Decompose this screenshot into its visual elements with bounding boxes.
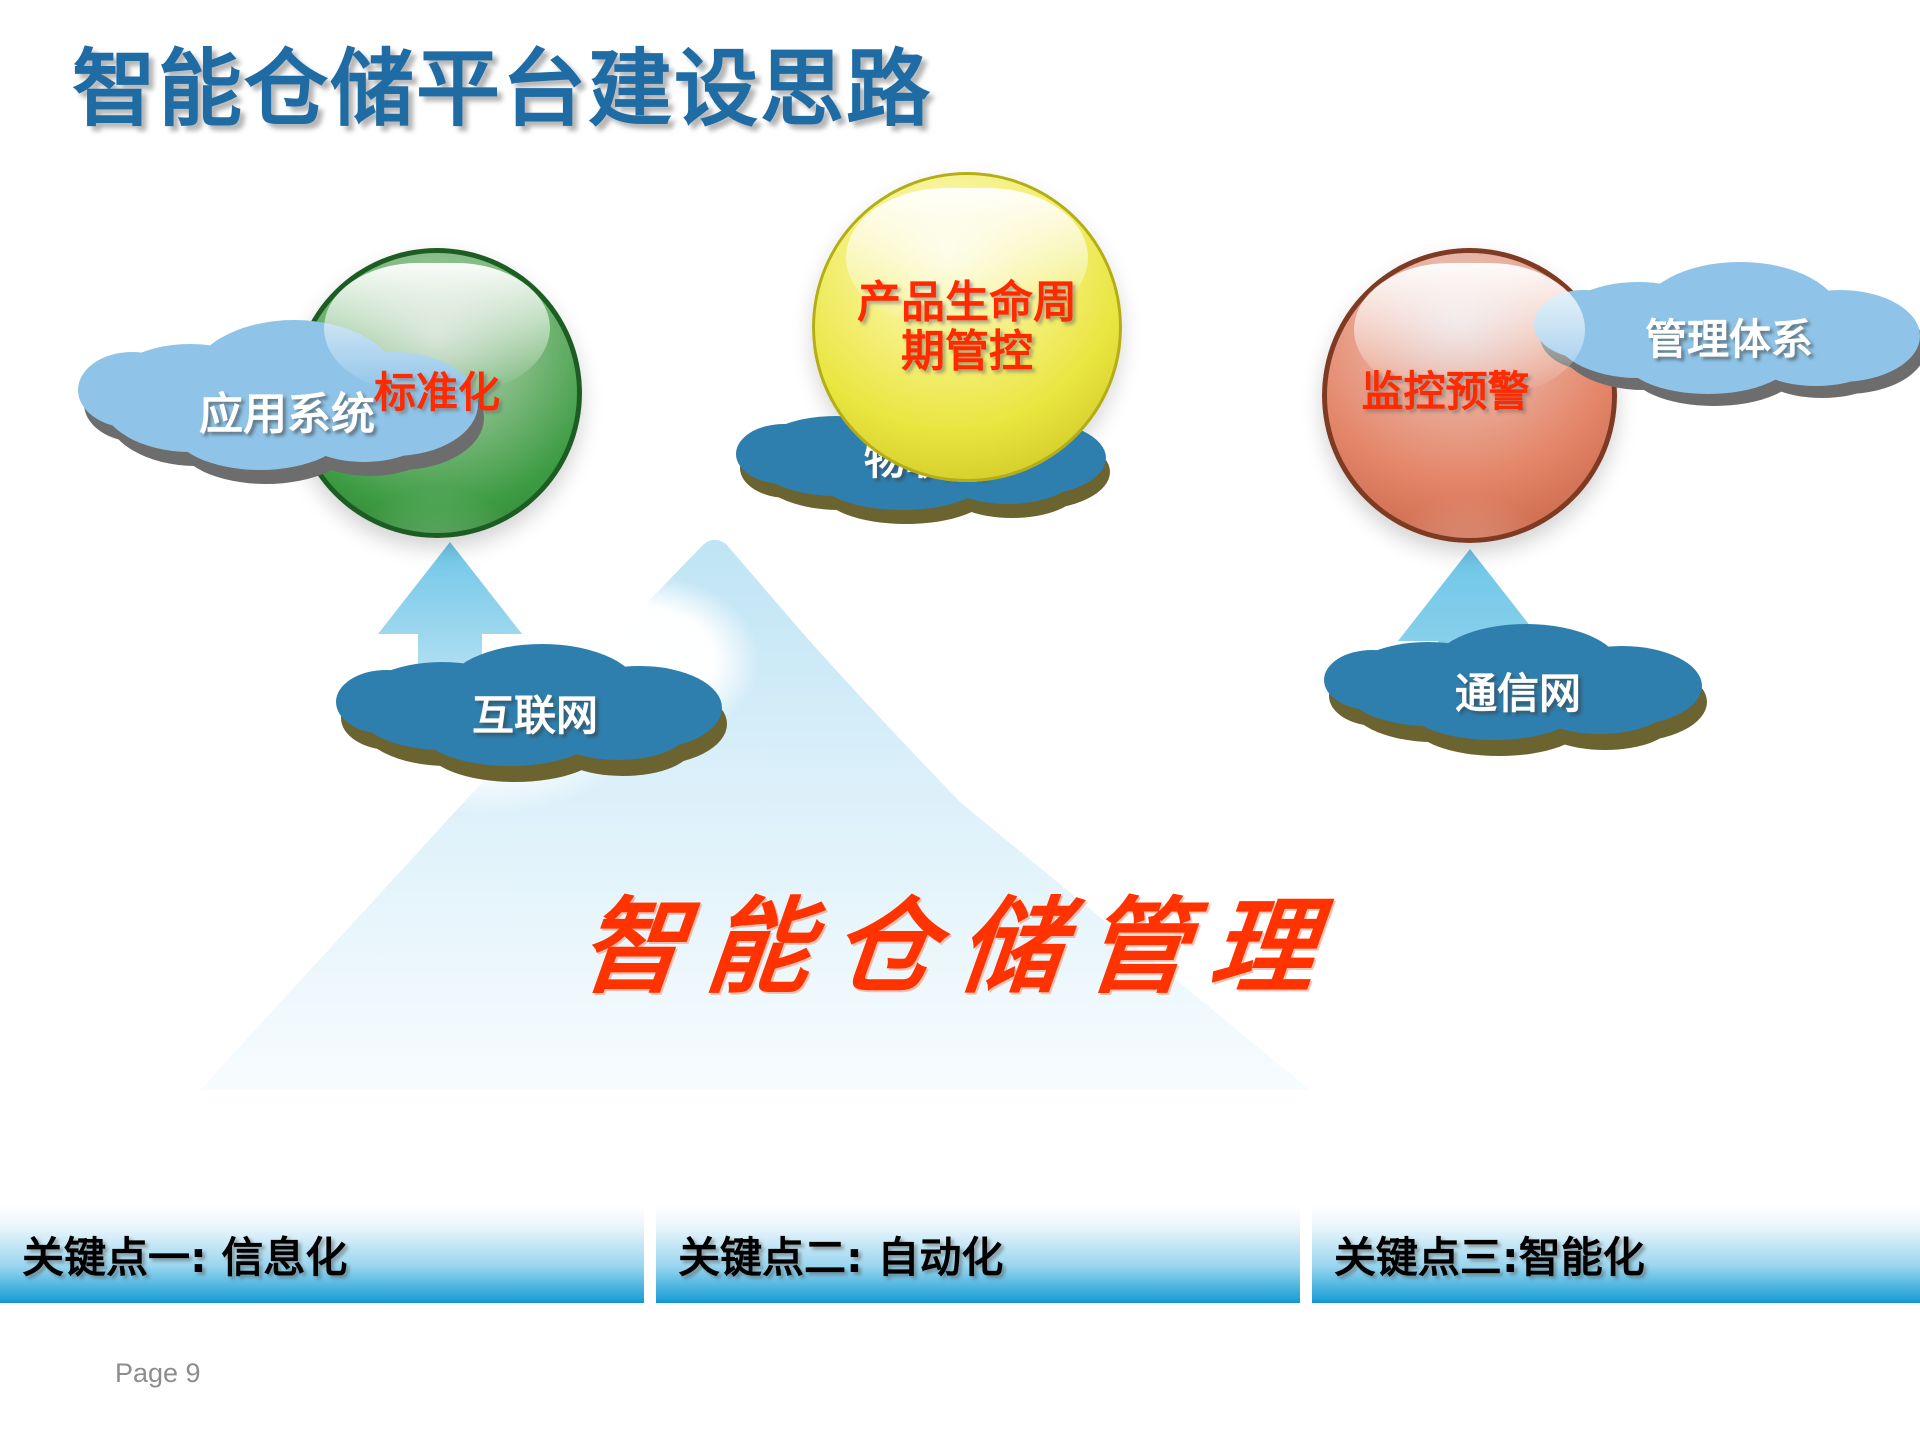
keypoint-bar-row: 关键点一: 信息化 关键点二: 自动化 关键点三:智能化: [0, 1205, 1920, 1303]
keypoint-separator-1: [644, 1205, 656, 1303]
sphere-yellow-label: 产品生命周 期管控: [857, 278, 1077, 377]
sphere-green-label: 标准化: [374, 369, 500, 416]
sphere-red-label: 监控预警: [1361, 368, 1529, 415]
slide-title: 智能仓储平台建设思路: [72, 22, 932, 143]
keypoint-three-label: 关键点三:智能化: [1334, 1224, 1645, 1285]
page-number: Page 9: [115, 1358, 201, 1389]
keypoint-two-label: 关键点二: 自动化: [678, 1224, 1003, 1285]
keypoint-bar-three[interactable]: 关键点三:智能化: [1312, 1205, 1920, 1303]
keypoint-bar-one[interactable]: 关键点一: 信息化: [0, 1205, 644, 1303]
keypoint-one-label: 关键点一: 信息化: [22, 1224, 347, 1285]
cloud-communication-network: 通信网: [1318, 620, 1718, 775]
cloud-management-system: 管理体系: [1528, 260, 1920, 420]
cloud-internet: 互联网: [330, 640, 740, 800]
slide-canvas: 智能仓储平台建设思路 标准化 产品生命周 期管控 监控预警: [0, 0, 1920, 1440]
sphere-yellow-line1: 产品生命周: [857, 277, 1077, 328]
keypoint-bar-two[interactable]: 关键点二: 自动化: [656, 1205, 1300, 1303]
keypoint-separator-2: [1300, 1205, 1312, 1303]
sphere-yellow-line2: 期管控: [901, 326, 1033, 377]
brush-banner-text: 智能仓储管理: [0, 862, 1920, 1013]
